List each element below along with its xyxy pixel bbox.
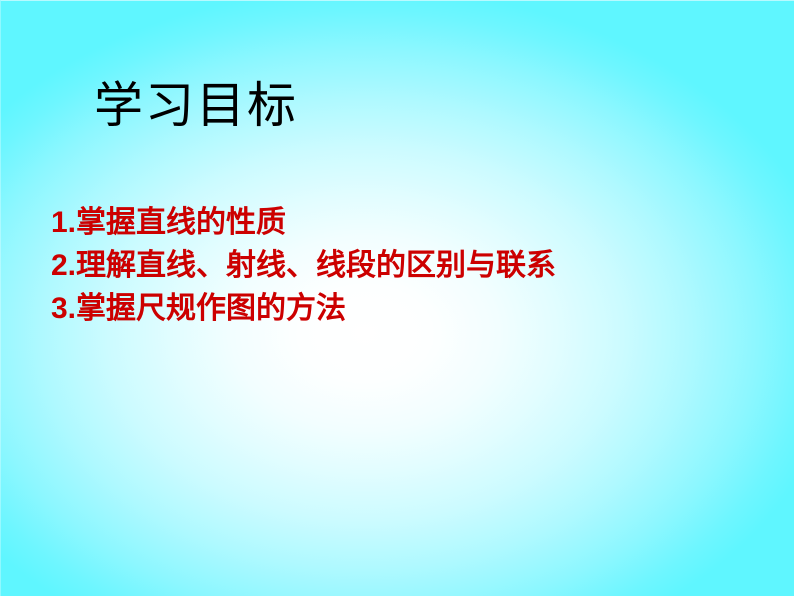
objective-item-1: 1.掌握直线的性质	[51, 201, 556, 244]
slide-title: 学习目标	[94, 79, 298, 134]
objective-item-3: 3.掌握尺规作图的方法	[51, 287, 556, 330]
slide-content: 学习目标 1.掌握直线的性质 2.理解直线、射线、线段的区别与联系 3.掌握尺规…	[0, 0, 794, 596]
objective-text-1: 掌握直线的性质	[76, 206, 286, 239]
objective-marker-1: 1.	[51, 206, 76, 239]
objective-marker-3: 3.	[51, 292, 76, 325]
objective-item-2: 2.理解直线、射线、线段的区别与联系	[51, 244, 556, 287]
objective-text-3: 掌握尺规作图的方法	[76, 292, 346, 325]
presentation-slide: 学习目标 1.掌握直线的性质 2.理解直线、射线、线段的区别与联系 3.掌握尺规…	[0, 0, 794, 596]
objective-marker-2: 2.	[51, 249, 76, 282]
objective-list: 1.掌握直线的性质 2.理解直线、射线、线段的区别与联系 3.掌握尺规作图的方法	[51, 201, 556, 330]
objective-text-2: 理解直线、射线、线段的区别与联系	[76, 249, 556, 282]
